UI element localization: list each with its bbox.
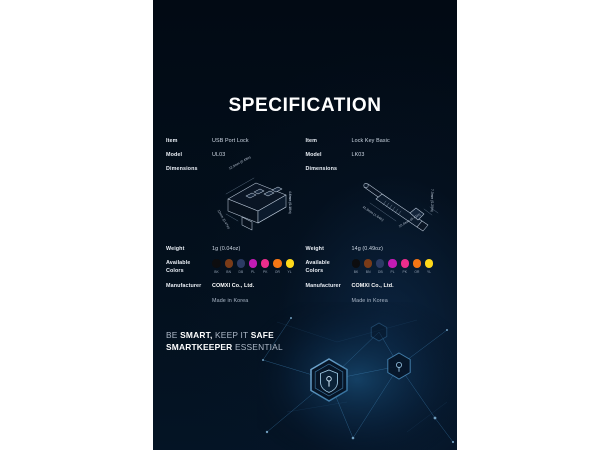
tagline-keepit: KEEP IT: [212, 330, 250, 340]
spec-label-colors: Available Colors: [306, 259, 352, 275]
tagline-safe: SAFE: [251, 330, 274, 340]
swatch-dot: [388, 259, 396, 267]
color-swatch-bk: BK: [352, 259, 361, 274]
usb-port-lock-diagram: 12.3mm (0.48in) 4.6mm (0.18in) 12mm (0.4…: [212, 165, 312, 239]
swatch-dot: [401, 259, 409, 267]
color-swatch-bn: BN: [364, 259, 373, 274]
spec-value-model: UL03: [212, 151, 302, 159]
tagline-be: BE: [166, 330, 180, 340]
spec-value-colors: BKBNDBPLPKORYL: [352, 259, 442, 274]
spec-value-weight: 14g (0.49oz): [352, 245, 442, 253]
swatch-code: OR: [275, 270, 280, 275]
swatch-code: PL: [251, 270, 255, 275]
spec-label-manufacturer: Manufacturer: [306, 282, 352, 290]
swatch-code: BK: [354, 270, 359, 275]
network-security-graphic: [257, 302, 457, 450]
swatch-code: DB: [378, 270, 383, 275]
swatch-dot: [413, 259, 421, 267]
spec-value-model: LK03: [352, 151, 442, 159]
color-swatch-row-1: BKBNDBPLPKORYL: [352, 259, 442, 274]
spec-row-colors: Available Colors BKBNDBPLPKORYL: [166, 259, 302, 275]
swatch-dot: [249, 259, 257, 267]
color-swatch-pl: PL: [388, 259, 397, 274]
swatch-dot: [425, 259, 433, 267]
tagline-smart: SMART,: [180, 330, 212, 340]
swatch-code: BK: [214, 270, 219, 275]
hero-tagline-line1: BE SMART, KEEP IT SAFE: [166, 329, 283, 341]
color-swatch-bk: BK: [212, 259, 221, 274]
swatch-code: BN: [366, 270, 371, 275]
lock-key-basic-diagram: 41.8mm (1.64in) 10.4mm (0.41in) 7.3mm (0…: [352, 165, 452, 239]
spec-value-colors: BKBNDBPLPKORYL: [212, 259, 302, 274]
swatch-code: YL: [427, 270, 431, 275]
spec-row-colors: Available Colors BKBNDBPLPKORYL: [306, 259, 442, 275]
spec-value-manufacturer: COMXI Co., Ltd.: [352, 282, 442, 290]
spec-label-weight: Weight: [166, 245, 212, 253]
color-swatch-or: OR: [412, 259, 421, 274]
color-swatch-yl: YL: [285, 259, 294, 274]
spec-label-model: Model: [306, 151, 352, 159]
swatch-dot: [364, 259, 372, 267]
spec-row-dimensions: Dimensions: [166, 165, 302, 239]
swatch-dot: [286, 259, 294, 267]
specification-tables: Item USB Port Lock Model UL03 Dimensions: [153, 137, 457, 311]
dimension-callout-height: 7.3mm (0.29in): [429, 189, 433, 212]
swatch-code: BN: [226, 270, 231, 275]
spec-label-manufacturer: Manufacturer: [166, 282, 212, 290]
spec-row-weight: Weight 14g (0.49oz): [306, 245, 442, 253]
hero-tagline: BE SMART, KEEP IT SAFE SMARTKEEPER ESSEN…: [166, 329, 283, 353]
spec-row-dimensions: Dimensions: [306, 165, 442, 239]
swatch-dot: [352, 259, 360, 267]
spec-row-model: Model UL03: [166, 151, 302, 159]
spec-value-item: Lock Key Basic: [352, 137, 442, 145]
spec-row-item: Item Lock Key Basic: [306, 137, 442, 145]
spec-value-item: USB Port Lock: [212, 137, 302, 145]
swatch-code: PK: [402, 270, 407, 275]
swatch-dot: [237, 259, 245, 267]
spec-value-weight: 1g (0.04oz): [212, 245, 302, 253]
spec-label-model: Model: [166, 151, 212, 159]
spec-row-item: Item USB Port Lock: [166, 137, 302, 145]
spec-label-dimensions: Dimensions: [306, 165, 352, 173]
spec-table-lock-key-basic: Item Lock Key Basic Model LK03 Dimension…: [306, 137, 446, 311]
color-swatch-pl: PL: [249, 259, 258, 274]
spec-table-usb-port-lock: Item USB Port Lock Model UL03 Dimensions: [166, 137, 306, 311]
page-canvas: SPECIFICATION Item USB Port Lock Model U…: [0, 0, 610, 450]
color-swatch-bn: BN: [224, 259, 233, 274]
spec-row-model: Model LK03: [306, 151, 442, 159]
page-title: SPECIFICATION: [153, 95, 457, 117]
tagline-smartkeeper: SMARTKEEPER: [166, 342, 232, 352]
spec-label-item: Item: [166, 137, 212, 145]
swatch-dot: [261, 259, 269, 267]
swatch-dot: [212, 259, 220, 267]
swatch-code: DB: [238, 270, 243, 275]
color-swatch-db: DB: [236, 259, 245, 274]
color-swatch-pk: PK: [400, 259, 409, 274]
spec-value-manufacturer: COMXI Co., Ltd.: [212, 282, 302, 290]
spec-label-dimensions: Dimensions: [166, 165, 212, 173]
swatch-dot: [273, 259, 281, 267]
spec-value-dimensions: 41.8mm (1.64in) 10.4mm (0.41in) 7.3mm (0…: [352, 165, 452, 239]
color-swatch-yl: YL: [425, 259, 434, 274]
swatch-code: YL: [288, 270, 292, 275]
hero-band: BE SMART, KEEP IT SAFE SMARTKEEPER ESSEN…: [153, 302, 457, 450]
color-swatch-row-0: BKBNDBPLPKORYL: [212, 259, 302, 274]
swatch-dot: [376, 259, 384, 267]
spec-value-dimensions: 12.3mm (0.48in) 4.6mm (0.18in) 12mm (0.4…: [212, 165, 312, 239]
swatch-code: PK: [263, 270, 268, 275]
spec-label-colors: Available Colors: [166, 259, 212, 275]
specification-sheet: SPECIFICATION Item USB Port Lock Model U…: [153, 0, 457, 450]
swatch-dot: [225, 259, 233, 267]
color-swatch-or: OR: [273, 259, 282, 274]
hero-tagline-line2: SMARTKEEPER ESSENTIAL: [166, 341, 283, 353]
spec-label-weight: Weight: [306, 245, 352, 253]
color-swatch-db: DB: [376, 259, 385, 274]
color-swatch-pk: PK: [261, 259, 270, 274]
tagline-essential: ESSENTIAL: [232, 342, 282, 352]
dimension-callout-height: 4.6mm (0.18in): [288, 191, 292, 214]
spec-label-item: Item: [306, 137, 352, 145]
swatch-code: PL: [390, 270, 394, 275]
swatch-code: OR: [414, 270, 419, 275]
spec-row-weight: Weight 1g (0.04oz): [166, 245, 302, 253]
